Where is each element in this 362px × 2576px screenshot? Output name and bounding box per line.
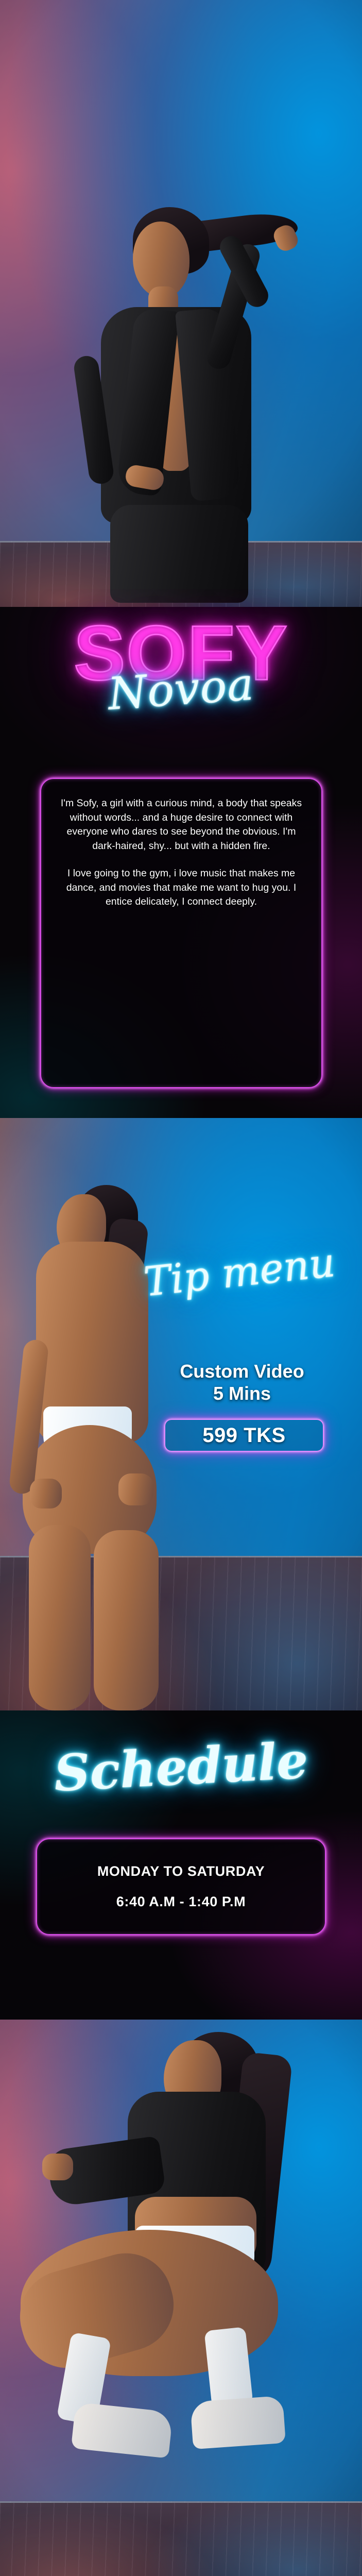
hand-pulling-sleeve bbox=[42, 2154, 73, 2180]
sneaker-right bbox=[190, 2396, 286, 2449]
profile-name-and-bio-section: SOFY Novoa I'm Sofy, a girl with a curio… bbox=[0, 607, 362, 1118]
schedule-hours: 6:40 A.M - 1:40 P.M bbox=[116, 1894, 246, 1910]
tip-menu-photo-panel: Tip menu Custom Video 5 Mins 599 TKS bbox=[0, 1118, 362, 1710]
schedule-card: MONDAY TO SATURDAY 6:40 A.M - 1:40 P.M bbox=[36, 1838, 326, 1935]
hand-right bbox=[118, 1473, 153, 1505]
sock-right bbox=[204, 2327, 253, 2408]
hand-left bbox=[30, 1479, 62, 1509]
profile-page: SOFY Novoa I'm Sofy, a girl with a curio… bbox=[0, 0, 362, 2576]
thigh-left bbox=[29, 1525, 91, 1710]
tip-menu-item-line-1: Custom Video bbox=[131, 1360, 353, 1382]
bio-paragraph-2: I love going to the gym, i love music th… bbox=[57, 867, 306, 909]
schedule-title: Schedule bbox=[0, 1715, 362, 1820]
thigh-right bbox=[94, 1530, 159, 1710]
tip-price-badge[interactable]: 599 TKS bbox=[164, 1419, 324, 1452]
schedule-section: Schedule MONDAY TO SATURDAY 6:40 A.M - 1… bbox=[0, 1710, 362, 2020]
shorts bbox=[110, 505, 248, 603]
hero-photo bbox=[0, 0, 362, 607]
tip-menu-item-line-2: 5 Mins bbox=[131, 1382, 353, 1404]
bio-paragraph-1: I'm Sofy, a girl with a curious mind, a … bbox=[57, 796, 306, 853]
schedule-days: MONDAY TO SATURDAY bbox=[97, 1863, 265, 1879]
squat-photo-panel bbox=[0, 2020, 362, 2576]
bio-card: I'm Sofy, a girl with a curious mind, a … bbox=[40, 778, 322, 1088]
tip-price-value: 599 TKS bbox=[202, 1424, 285, 1447]
tip-menu-item: Custom Video 5 Mins bbox=[131, 1360, 353, 1404]
floor-light-glow bbox=[0, 2501, 362, 2576]
